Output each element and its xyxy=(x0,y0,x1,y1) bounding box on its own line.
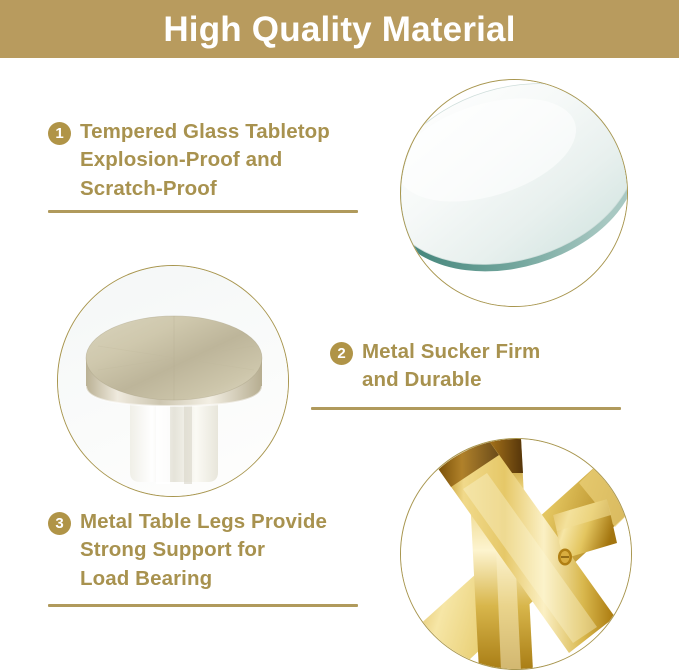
feature-2-line-1: Metal Sucker Firm xyxy=(362,338,540,366)
feature-2-text-block: 2 Metal Sucker Firm and Durable xyxy=(330,338,540,395)
feature-1-line-2: Explosion-Proof and xyxy=(80,146,330,174)
feature-3-number-badge: 3 xyxy=(48,512,71,535)
feature-2-heading: 2 Metal Sucker Firm and Durable xyxy=(330,338,540,395)
header-banner: High Quality Material xyxy=(0,0,679,58)
feature-2-lines: Metal Sucker Firm and Durable xyxy=(362,338,540,395)
feature-1-text-block: 1 Tempered Glass Tabletop Explosion-Proo… xyxy=(48,118,330,203)
feature-1-line-3: Scratch-Proof xyxy=(80,175,330,203)
metal-sucker-photo xyxy=(57,265,289,497)
feature-3-line-2: Strong Support for xyxy=(80,536,327,564)
feature-2-number-badge: 2 xyxy=(330,342,353,365)
feature-2-line-2: and Durable xyxy=(362,366,540,394)
feature-3-lines: Metal Table Legs Provide Strong Support … xyxy=(80,508,327,593)
page-title: High Quality Material xyxy=(163,12,515,47)
feature-1-heading: 1 Tempered Glass Tabletop Explosion-Proo… xyxy=(48,118,330,203)
feature-3-line-1: Metal Table Legs Provide xyxy=(80,508,327,536)
metal-table-legs-photo xyxy=(400,438,632,670)
feature-3-text-block: 3 Metal Table Legs Provide Strong Suppor… xyxy=(48,508,327,593)
feature-1-line-1: Tempered Glass Tabletop xyxy=(80,118,330,146)
tempered-glass-tabletop-photo xyxy=(400,79,628,307)
feature-1-number-badge: 1 xyxy=(48,122,71,145)
feature-1-divider xyxy=(48,210,358,213)
feature-2-divider xyxy=(311,407,621,410)
feature-3-divider xyxy=(48,604,358,607)
feature-3-heading: 3 Metal Table Legs Provide Strong Suppor… xyxy=(48,508,327,593)
feature-1-lines: Tempered Glass Tabletop Explosion-Proof … xyxy=(80,118,330,203)
feature-3-line-3: Load Bearing xyxy=(80,565,327,593)
